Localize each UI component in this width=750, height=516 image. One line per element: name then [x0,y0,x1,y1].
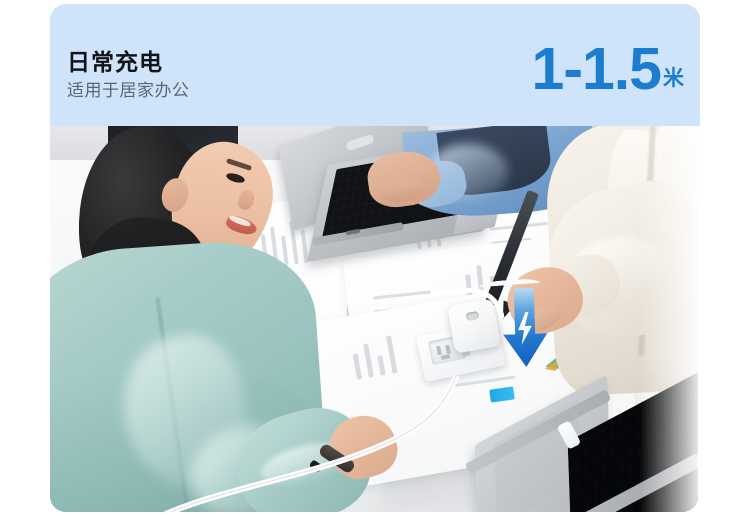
white-charging-cable [90,376,510,512]
banner-text-group: 日常充电 适用于居家办公 [67,48,190,103]
paper-chart-bar [363,343,374,377]
measurement-value: 1-1.5 [532,40,661,98]
banner-measurement: 1-1.5 米 [532,40,684,98]
banner-subtitle: 适用于居家办公 [67,79,190,103]
banner-title: 日常充电 [67,48,190,76]
charging-arrow [501,287,550,369]
product-detail-page: 日常充电 适用于居家办公 1-1.5 米 [0,0,750,516]
photo-right-fade [640,126,698,512]
paper-print-line [373,290,431,299]
header-banner: 日常充电 适用于居家办公 1-1.5 米 [50,4,700,126]
product-scene-photo [50,126,698,512]
paper-chart-bar [377,355,385,376]
paper-chart-bar [386,335,398,373]
measurement-unit: 米 [661,65,684,98]
